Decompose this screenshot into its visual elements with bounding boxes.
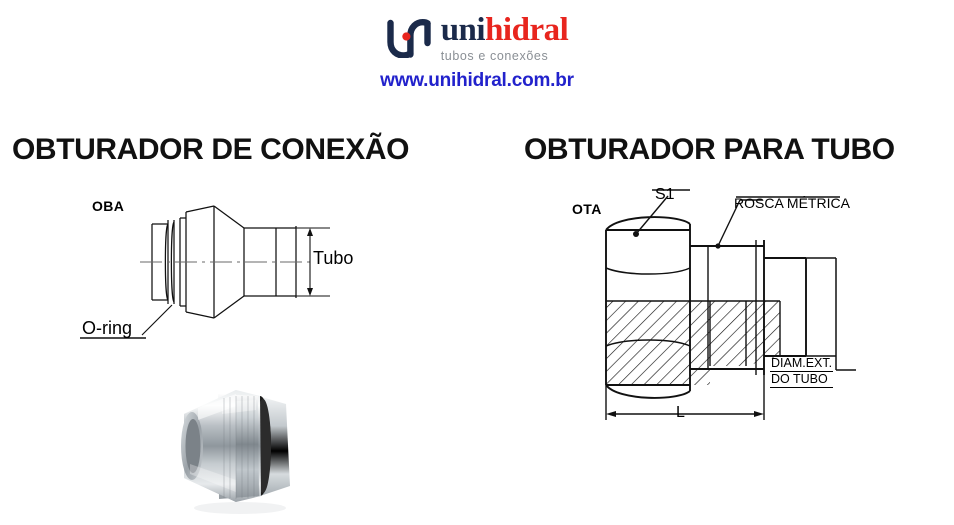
obturador-de-conexao-photo [140, 368, 340, 520]
callout-label-oring: O-ring [82, 318, 132, 339]
logo-wordmark: unihidral [441, 14, 569, 47]
diam-ext-line2: DO TUBO [770, 372, 833, 388]
logo-tagline: tubos e conexões [441, 50, 549, 63]
technical-drawing-obturador-conexao [0, 0, 400, 360]
callout-label-diam-ext-do-tubo: DIAM.EXT. DO TUBO [770, 356, 833, 388]
dimension-label-s1: S1 [655, 186, 675, 204]
diam-ext-line1: DIAM.EXT. [770, 356, 833, 372]
logo-row: unihidral tubos e conexões [386, 14, 569, 63]
wordmark-uni: uni [441, 12, 485, 48]
part-code-ota: OTA [572, 201, 602, 217]
callout-label-rosca-metrica: ROSCA MÉTRICA [734, 195, 850, 211]
section-title-right: OBTURADOR PARA TUBO [524, 133, 895, 167]
dimension-label-tubo: Tubo [313, 248, 353, 269]
part-code-oba: OBA [92, 198, 124, 214]
wordmark-hidral: hidral [485, 12, 568, 48]
dimension-label-l: L [676, 404, 685, 422]
logo-wordmark-group: unihidral tubos e conexões [441, 14, 569, 63]
